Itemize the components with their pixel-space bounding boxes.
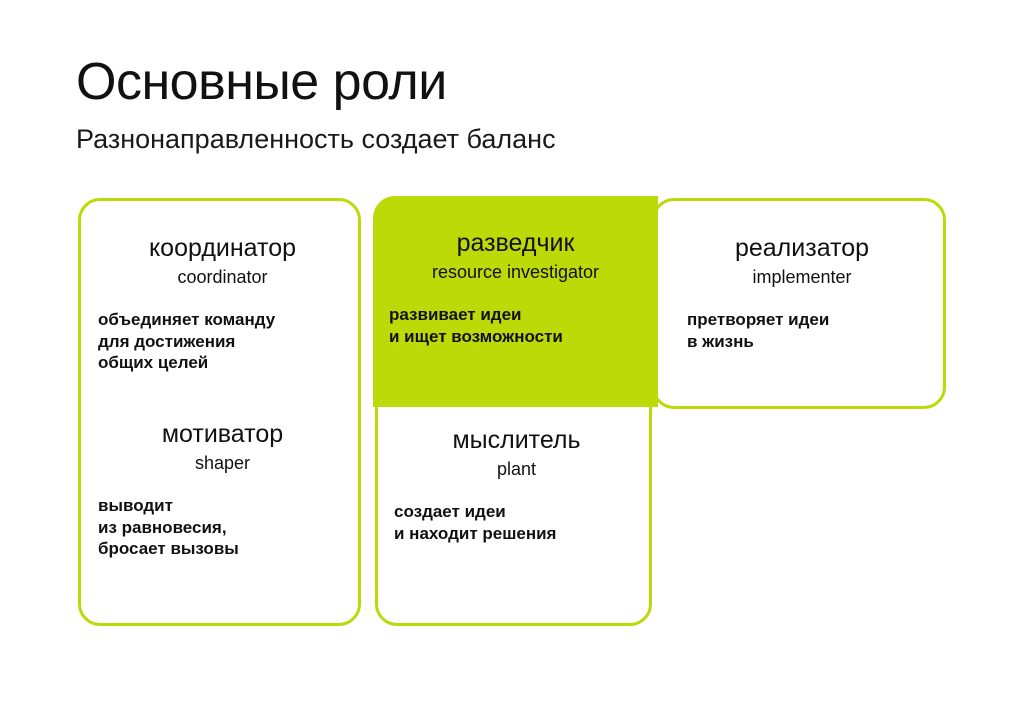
role-plant-name-en: plant (394, 457, 639, 481)
card-accent-resource-investigator[interactable]: разведчик resource investigator развивае… (373, 196, 658, 407)
role-coordinator-name-en: coordinator (98, 265, 347, 289)
role-implementer-name-en: implementer (687, 265, 917, 289)
roles-diagram: координатор coordinator объединяет коман… (78, 198, 946, 626)
role-plant[interactable]: мыслитель plant создает идеи и находит р… (378, 425, 655, 544)
slide-canvas: Основные роли Разнонаправленность создае… (0, 0, 1024, 706)
role-coordinator-head: координатор coordinator (98, 233, 347, 289)
role-implementer-description: претворяет идеи в жизнь (687, 309, 917, 352)
role-resource-investigator-head: разведчик resource investigator (389, 228, 642, 284)
role-plant-head: мыслитель plant (394, 425, 639, 481)
role-resource-investigator-name-en: resource investigator (389, 260, 642, 284)
page-title: Основные роли (76, 52, 956, 112)
role-shaper[interactable]: мотиватор shaper выводит из равновесия, … (84, 419, 361, 560)
role-shaper-head: мотиватор shaper (98, 419, 347, 475)
role-shaper-name-en: shaper (98, 451, 347, 475)
page-subtitle: Разнонаправленность создает баланс (76, 122, 956, 156)
slide-header: Основные роли Разнонаправленность создае… (76, 52, 956, 156)
role-resource-investigator[interactable]: разведчик resource investigator развивае… (373, 228, 658, 347)
role-implementer-name-ru: реализатор (687, 233, 917, 263)
card-right-column[interactable]: реализатор implementer претворяет идеи в… (652, 198, 946, 409)
role-shaper-description: выводит из равновесия, бросает вызовы (98, 495, 347, 560)
card-left-column[interactable]: координатор coordinator объединяет коман… (78, 198, 361, 626)
role-coordinator-description: объединяет команду для достижения общих … (98, 309, 347, 374)
role-coordinator[interactable]: координатор coordinator объединяет коман… (84, 233, 361, 374)
role-coordinator-name-ru: координатор (98, 233, 347, 263)
role-resource-investigator-description: развивает идеи и ищет возможности (389, 304, 642, 347)
role-implementer-head: реализатор implementer (687, 233, 917, 289)
role-shaper-name-ru: мотиватор (98, 419, 347, 449)
role-plant-name-ru: мыслитель (394, 425, 639, 455)
role-resource-investigator-name-ru: разведчик (389, 228, 642, 258)
role-plant-description: создает идеи и находит решения (394, 501, 639, 544)
role-implementer[interactable]: реализатор implementer претворяет идеи в… (655, 233, 949, 352)
